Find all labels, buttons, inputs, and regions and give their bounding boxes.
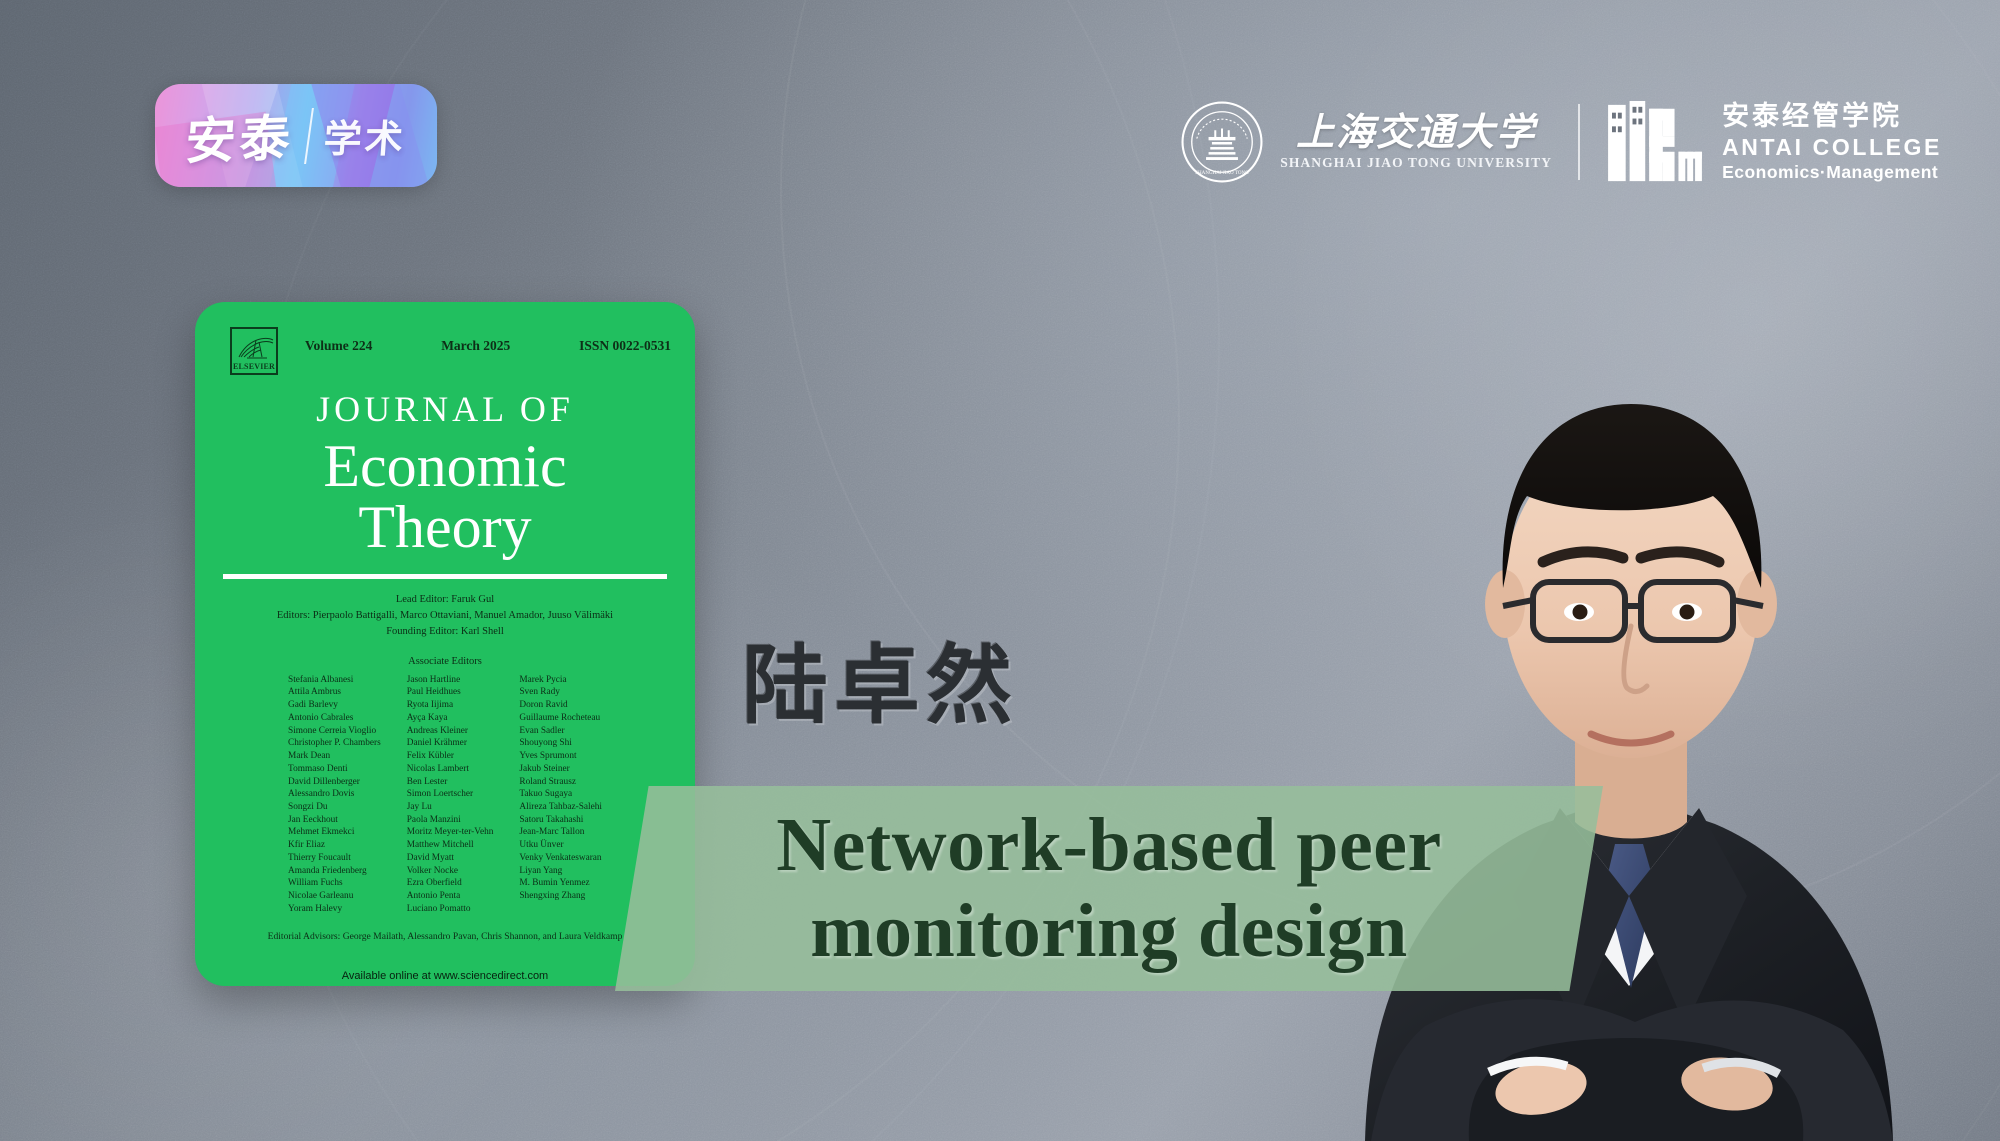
editor-name: William Fuchs (288, 877, 381, 890)
editor-name: Takuo Sugaya (519, 788, 602, 801)
editor-name: Guillaume Rocheteau (519, 712, 602, 725)
journal-associate-editor-columns: Stefania AlbanesiAttila AmbrusGadi Barle… (195, 674, 695, 916)
editor-name: David Dillenberger (288, 776, 381, 789)
editor-name: Ryota Iijima (407, 699, 494, 712)
journal-title-block: JOURNAL OF Economic Theory (195, 388, 695, 558)
journal-editors: Editors: Pierpaolo Battigalli, Marco Ott… (195, 608, 695, 624)
acem-wordmark: 安泰经管学院 ANTAI COLLEGE Economics·Managemen… (1722, 102, 1942, 182)
sjtu-seal-icon: SHANGHAI JIAO TONG (1180, 100, 1264, 184)
editor-name: Alessandro Dovis (288, 788, 381, 801)
editor-name: Mark Dean (288, 750, 381, 763)
acem-name-en: ANTAI COLLEGE (1722, 135, 1942, 160)
acem-logo: 安泰经管学院 ANTAI COLLEGE Economics·Managemen… (1606, 99, 1942, 185)
editor-name: Gadi Barlevy (288, 699, 381, 712)
editor-name: Jay Lu (407, 801, 494, 814)
editor-name: Shouyong Shi (519, 737, 602, 750)
elsevier-logo: ELSEVIER (230, 327, 278, 375)
editor-name: Antonio Penta (407, 890, 494, 903)
journal-rule (223, 574, 667, 579)
journal-editors-block: Lead Editor: Faruk Gul Editors: Pierpaol… (195, 592, 695, 639)
editor-name: Ben Lester (407, 776, 494, 789)
acem-name-cn: 安泰经管学院 (1722, 102, 1942, 132)
journal-founding-editor: Founding Editor: Karl Shell (195, 624, 695, 640)
editor-name: Thierry Foucault (288, 852, 381, 865)
editor-name: Felix Kübler (407, 750, 494, 763)
editor-name: Venky Venkateswaran (519, 852, 602, 865)
journal-issn: ISSN 0022-0531 (579, 338, 671, 354)
editor-name: Jean-Marc Tallon (519, 826, 602, 839)
editor-name: Jason Hartline (407, 674, 494, 687)
editor-name: Nicolas Lambert (407, 763, 494, 776)
logo-divider (1578, 104, 1580, 180)
editor-name: Evan Sadler (519, 725, 602, 738)
editor-name: Simon Loertscher (407, 788, 494, 801)
editor-name: Luciano Pomatto (407, 903, 494, 916)
sjtu-logo: SHANGHAI JIAO TONG 上海交通大学 SHANGHAI JIAO … (1180, 100, 1552, 184)
editor-name: Kfir Eliaz (288, 839, 381, 852)
editor-name: Stefania Albanesi (288, 674, 381, 687)
editor-name: Andreas Kleiner (407, 725, 494, 738)
editor-name: Jan Eeckhout (288, 814, 381, 827)
antai-academic-badge: 安泰 学术 (155, 84, 437, 187)
journal-title-line2: Economic (195, 436, 695, 497)
badge-title-main: 安泰 (183, 98, 296, 174)
journal-title-line1: JOURNAL OF (195, 388, 695, 430)
editor-name: Sven Rady (519, 686, 602, 699)
editor-name: Nicolae Garleanu (288, 890, 381, 903)
editor-name: Attila Ambrus (288, 686, 381, 699)
acem-mark-icon (1606, 99, 1704, 185)
sjtu-wordmark: 上海交通大学 SHANGHAI JIAO TONG UNIVERSITY (1280, 114, 1552, 170)
editor-name: Shengxing Zhang (519, 890, 602, 903)
editor-name: Paola Manzini (407, 814, 494, 827)
journal-date: March 2025 (441, 338, 510, 354)
editor-name: Volker Nocke (407, 865, 494, 878)
journal-cover-header: ELSEVIER Volume 224 March 2025 ISSN 0022… (195, 302, 695, 378)
journal-associate-heading: Associate Editors (195, 656, 695, 667)
editor-name: Mehmet Ekmekci (288, 826, 381, 839)
editor-name: Christopher P. Chambers (288, 737, 381, 750)
badge-title-sub: 学术 (322, 108, 408, 163)
badge-text-group: 安泰 学术 (155, 84, 437, 187)
editor-column-3: Marek PyciaSven RadyDoron RavidGuillaume… (519, 674, 602, 916)
journal-issue-row: Volume 224 March 2025 ISSN 0022-0531 (305, 338, 671, 354)
editor-name: Matthew Mitchell (407, 839, 494, 852)
editor-name: Songzi Du (288, 801, 381, 814)
editor-name: Doron Ravid (519, 699, 602, 712)
editor-name: Liyan Yang (519, 865, 602, 878)
acem-name-sub: Economics·Management (1722, 163, 1942, 182)
elsevier-wordmark: ELSEVIER (233, 362, 275, 371)
svg-text:SHANGHAI JIAO TONG: SHANGHAI JIAO TONG (1195, 170, 1249, 176)
sjtu-name-en: SHANGHAI JIAO TONG UNIVERSITY (1280, 156, 1552, 170)
speaker-portrait-photo (1275, 196, 1975, 1141)
editor-name: M. Bumin Yenmez (519, 877, 602, 890)
editor-name: Yoram Halevy (288, 903, 381, 916)
journal-editorial-advisors: Editorial Advisors: George Mailath, Ales… (195, 931, 695, 942)
talk-title-banner: Network-based peer monitoring design (615, 786, 1603, 991)
journal-cover: ELSEVIER Volume 224 March 2025 ISSN 0022… (195, 302, 695, 986)
editor-name: Roland Strausz (519, 776, 602, 789)
editor-name: Moritz Meyer-ter-Vehn (407, 826, 494, 839)
editor-name: Yves Sprumont (519, 750, 602, 763)
editor-name: Amanda Friedenberg (288, 865, 381, 878)
editor-column-1: Stefania AlbanesiAttila AmbrusGadi Barle… (288, 674, 381, 916)
editor-name: Satoru Takahashi (519, 814, 602, 827)
editor-name: Utku Ünver (519, 839, 602, 852)
editor-name: Marek Pycia (519, 674, 602, 687)
badge-divider (304, 108, 314, 164)
editor-name: Paul Heidhues (407, 686, 494, 699)
editor-name: Simone Cerreia Vioglio (288, 725, 381, 738)
speaker-name: 陆卓然 (742, 615, 1018, 740)
editor-name: Antonio Cabrales (288, 712, 381, 725)
editor-name: Ayça Kaya (407, 712, 494, 725)
editor-name: Ezra Oberfield (407, 877, 494, 890)
poster-canvas: 安泰 学术 SHANGHAI JI (0, 0, 2000, 1141)
sjtu-name-cn: 上海交通大学 (1296, 114, 1536, 152)
editor-name: Tommaso Denti (288, 763, 381, 776)
editor-name: Daniel Krähmer (407, 737, 494, 750)
elsevier-tree-icon (235, 331, 277, 361)
editor-name: Alireza Tahbaz-Salehi (519, 801, 602, 814)
institution-logo-lockup: SHANGHAI JIAO TONG 上海交通大学 SHANGHAI JIAO … (1180, 96, 1942, 188)
talk-title-line2: monitoring design (810, 889, 1408, 974)
editor-name: David Myatt (407, 852, 494, 865)
journal-lead-editor: Lead Editor: Faruk Gul (195, 592, 695, 608)
journal-volume: Volume 224 (305, 338, 372, 354)
talk-title-line1: Network-based peer (776, 803, 1441, 888)
editor-column-2: Jason HartlinePaul HeidhuesRyota IijimaA… (407, 674, 494, 916)
editor-name: Jakub Steiner (519, 763, 602, 776)
journal-title-line3: Theory (195, 497, 695, 558)
